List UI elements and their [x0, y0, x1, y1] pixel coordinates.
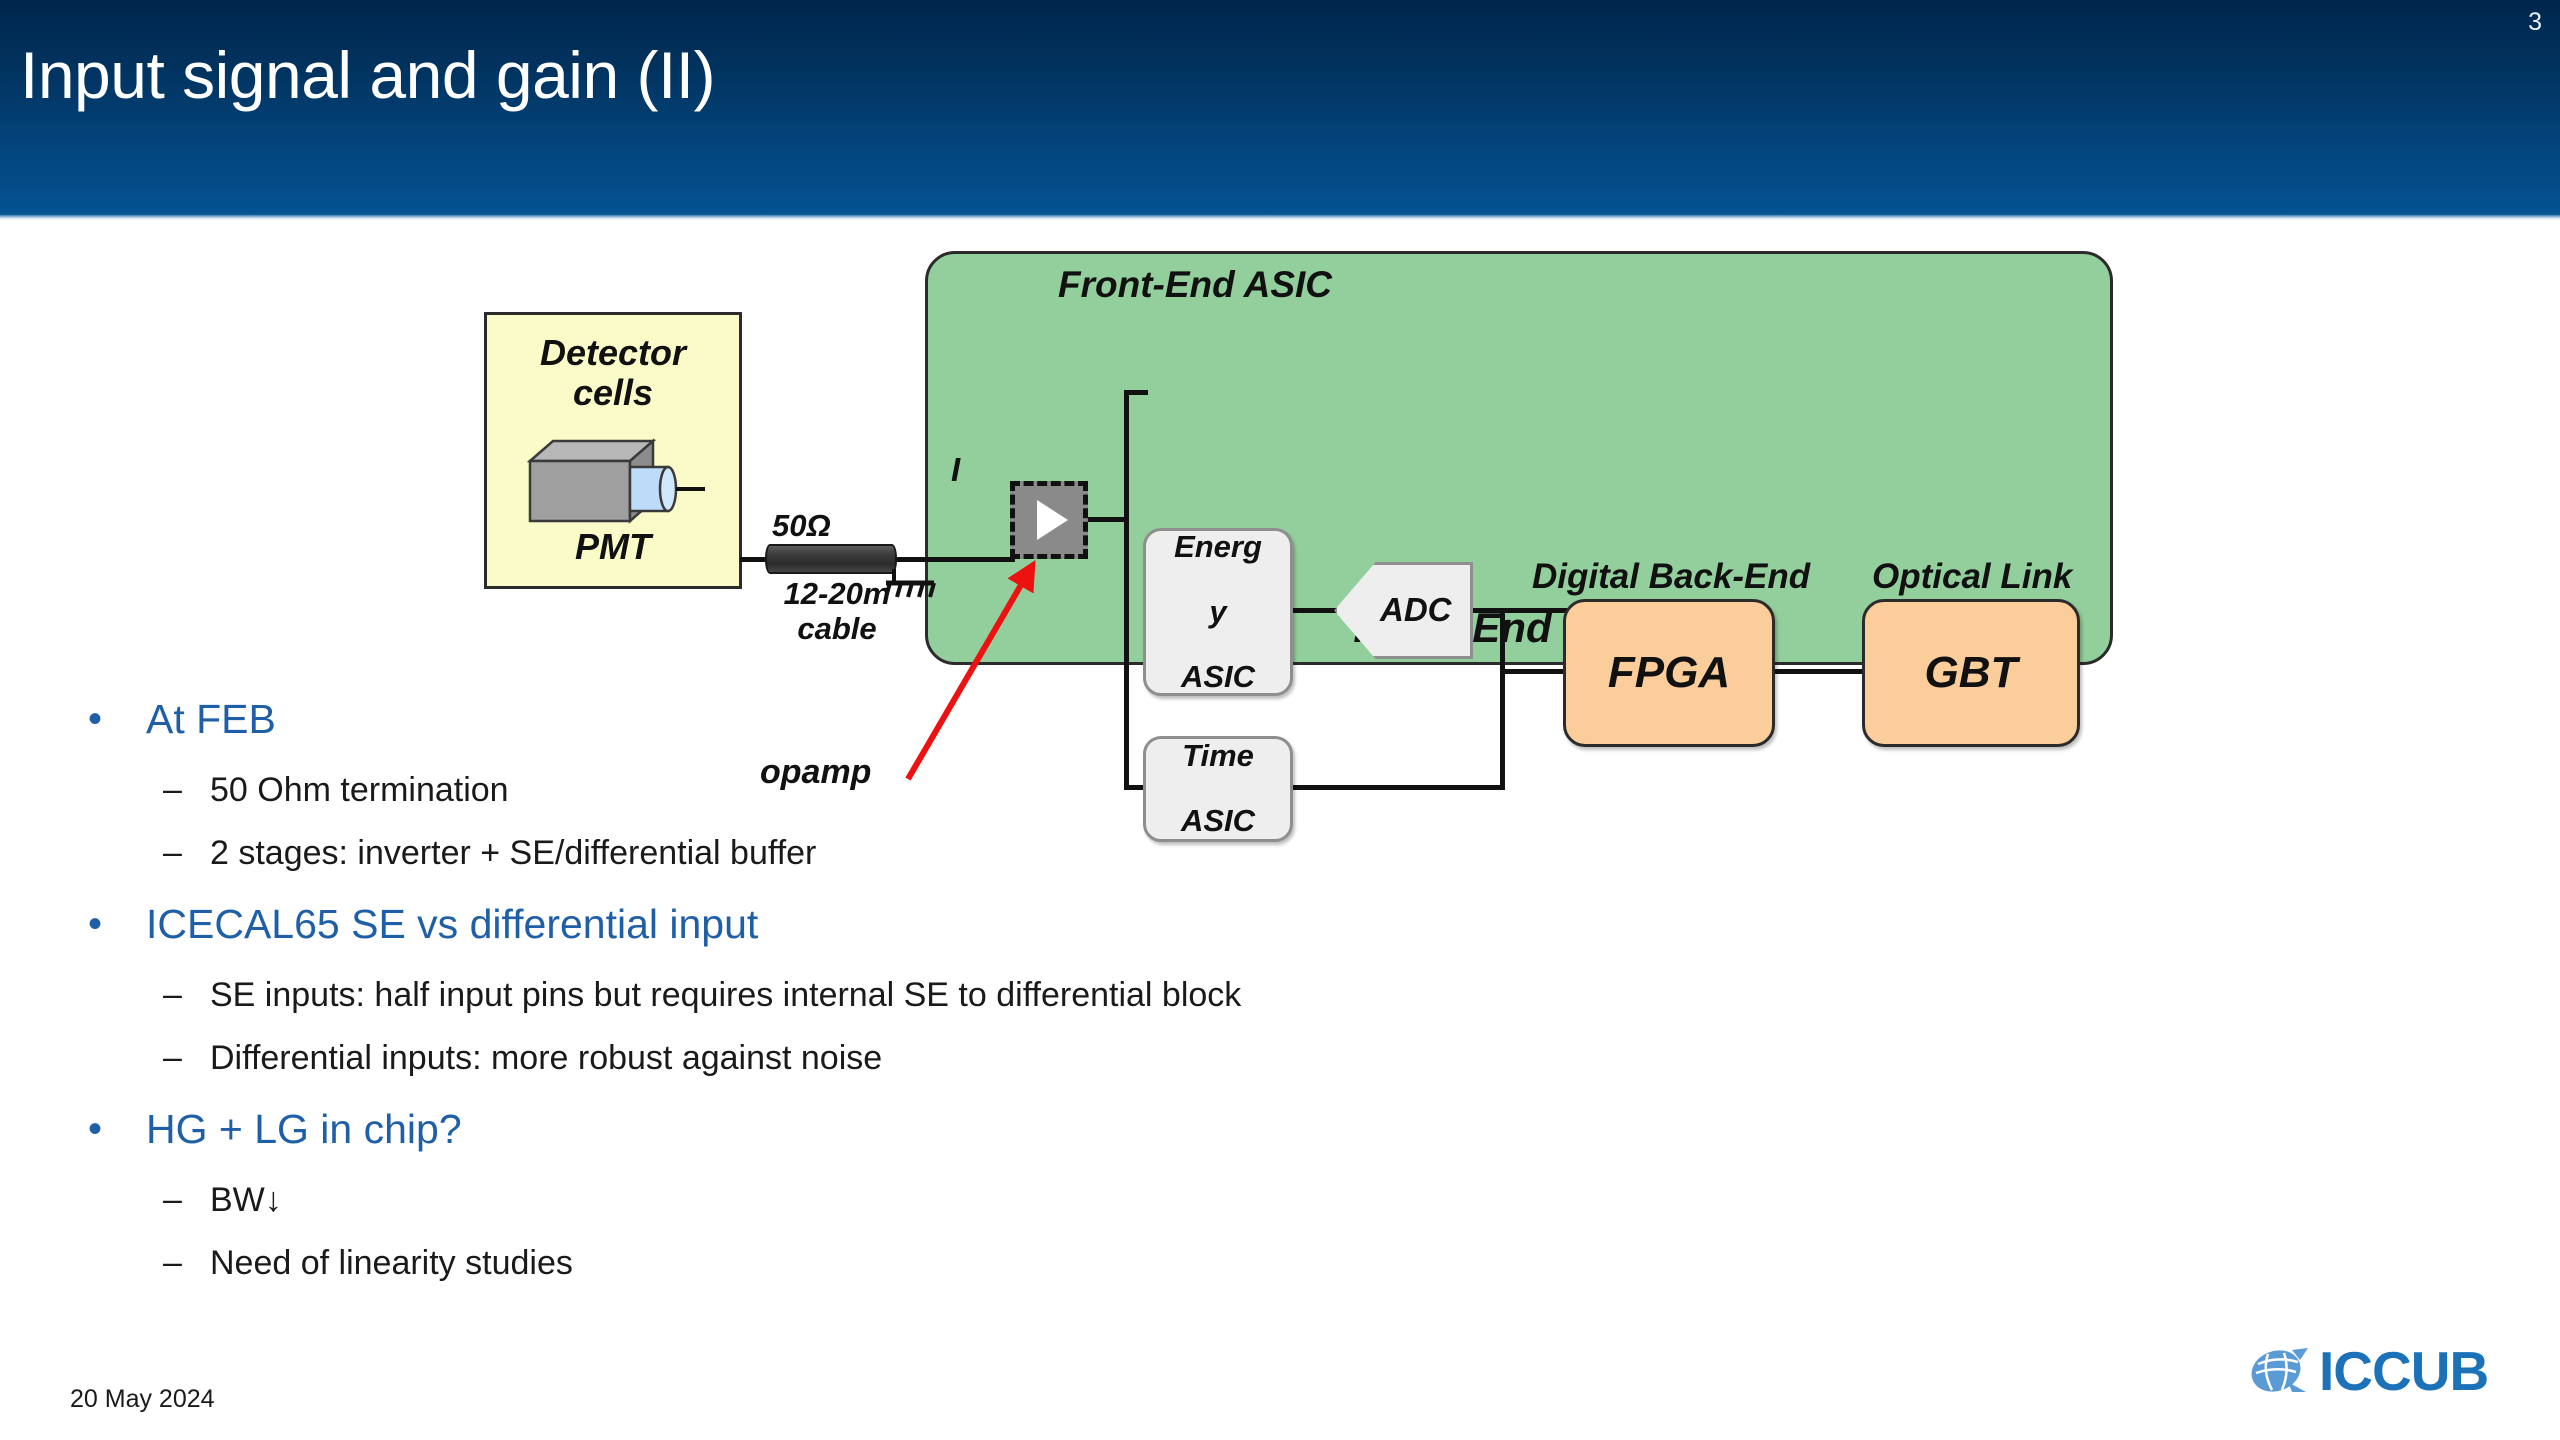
slide-body-bullets: At FEB 50 Ohm termination 2 stages: inve… — [0, 680, 1800, 1295]
bullet-level1: ICECAL65 SE vs differential input — [0, 885, 1800, 964]
signal-chain-diagram: Front-End ASIC Front End Board I Detecto… — [0, 219, 2560, 689]
energy-asic-label-line2: y — [1174, 596, 1262, 629]
gbt-block: GBT — [1862, 599, 2080, 747]
energy-asic-label-line1: Energ — [1174, 531, 1262, 564]
wire-energy-to-adc — [1290, 608, 1340, 613]
bullet-level1: HG + LG in chip? — [0, 1090, 1800, 1169]
wire-to-energy-asic — [1124, 390, 1148, 395]
detector-cells-box: Detector cells PMT — [484, 312, 742, 589]
bullet-level2: Differential inputs: more robust against… — [0, 1027, 1800, 1090]
detector-cells-label: Detector cells — [487, 333, 739, 414]
amplifier-triangle-icon — [1037, 500, 1068, 540]
digital-back-end-label: Digital Back-End — [1532, 557, 1810, 597]
current-label: I — [951, 451, 960, 489]
detector-cells-label-line1: Detector — [487, 333, 739, 373]
logo-text: ICCUB — [2319, 1344, 2488, 1399]
adc-label: ADC — [1380, 591, 1452, 629]
wire-opamp-out — [1088, 517, 1128, 522]
wire-adc-out — [1470, 608, 1570, 613]
cable-length-line2: cable — [762, 611, 912, 646]
energy-asic-label: Energ y ASIC — [1174, 531, 1262, 694]
page-number: 3 — [2528, 8, 2542, 37]
bullet-level2: SE inputs: half input pins but requires … — [0, 964, 1800, 1027]
bullet-level2: Need of linearity studies — [0, 1232, 1800, 1295]
bullet-level1: At FEB — [0, 680, 1800, 759]
coax-cable-icon — [765, 544, 897, 574]
optical-link-label: Optical Link — [1872, 557, 2072, 597]
pmt-label: PMT — [487, 526, 739, 568]
globe-icon — [2248, 1346, 2310, 1396]
wire-bus-to-fpga — [1500, 669, 1570, 674]
bullet-level2: 2 stages: inverter + SE/differential buf… — [0, 822, 1800, 885]
front-end-asic-label: Front-End ASIC — [1058, 264, 1332, 306]
pmt-icon — [525, 433, 705, 533]
iccub-logo: ICCUB — [2248, 1340, 2488, 1402]
energy-asic-block: Energ y ASIC — [1143, 528, 1293, 696]
bullet-level2: BW↓ — [0, 1169, 1800, 1232]
cable-impedance-label: 50Ω — [772, 508, 831, 544]
wire-fpga-to-gbt — [1773, 669, 1865, 674]
bullet-level2: 50 Ohm termination — [0, 759, 1800, 822]
detector-cells-label-line2: cells — [487, 373, 739, 413]
opamp-amplifier-icon — [1010, 481, 1088, 559]
footer-date: 20 May 2024 — [70, 1385, 215, 1414]
gbt-label: GBT — [1925, 648, 2018, 698]
page-title: Input signal and gain (II) — [20, 37, 715, 113]
